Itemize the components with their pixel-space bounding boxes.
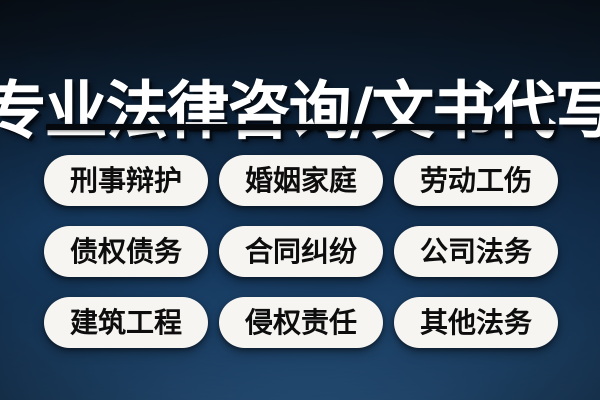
- legal-services-poster: 专业法律咨询/文书代写 刑事辩护 婚姻家庭 劳动工伤 债权债务 合同纠纷 公司法…: [0, 0, 600, 400]
- service-tag[interactable]: 建筑工程: [44, 297, 208, 348]
- service-tag-row: 债权债务 合同纠纷 公司法务: [44, 226, 558, 277]
- title-divider: [46, 124, 556, 130]
- service-tag[interactable]: 公司法务: [394, 226, 558, 277]
- service-tag-row: 刑事辩护 婚姻家庭 劳动工伤: [44, 155, 558, 206]
- service-tag-row: 建筑工程 侵权责任 其他法务: [44, 297, 558, 348]
- service-tag[interactable]: 债权债务: [44, 226, 208, 277]
- service-tag[interactable]: 侵权责任: [219, 297, 383, 348]
- service-tag[interactable]: 刑事辩护: [44, 155, 208, 206]
- service-tag[interactable]: 劳动工伤: [394, 155, 558, 206]
- poster-content: 专业法律咨询/文书代写 刑事辩护 婚姻家庭 劳动工伤 债权债务 合同纠纷 公司法…: [0, 0, 600, 400]
- service-tag-grid: 刑事辩护 婚姻家庭 劳动工伤 债权债务 合同纠纷 公司法务 建筑工程 侵权责任 …: [44, 155, 558, 348]
- service-tag[interactable]: 其他法务: [394, 297, 558, 348]
- service-tag[interactable]: 合同纠纷: [219, 226, 383, 277]
- page-title: 专业法律咨询/文书代写: [0, 71, 600, 151]
- service-tag[interactable]: 婚姻家庭: [219, 155, 383, 206]
